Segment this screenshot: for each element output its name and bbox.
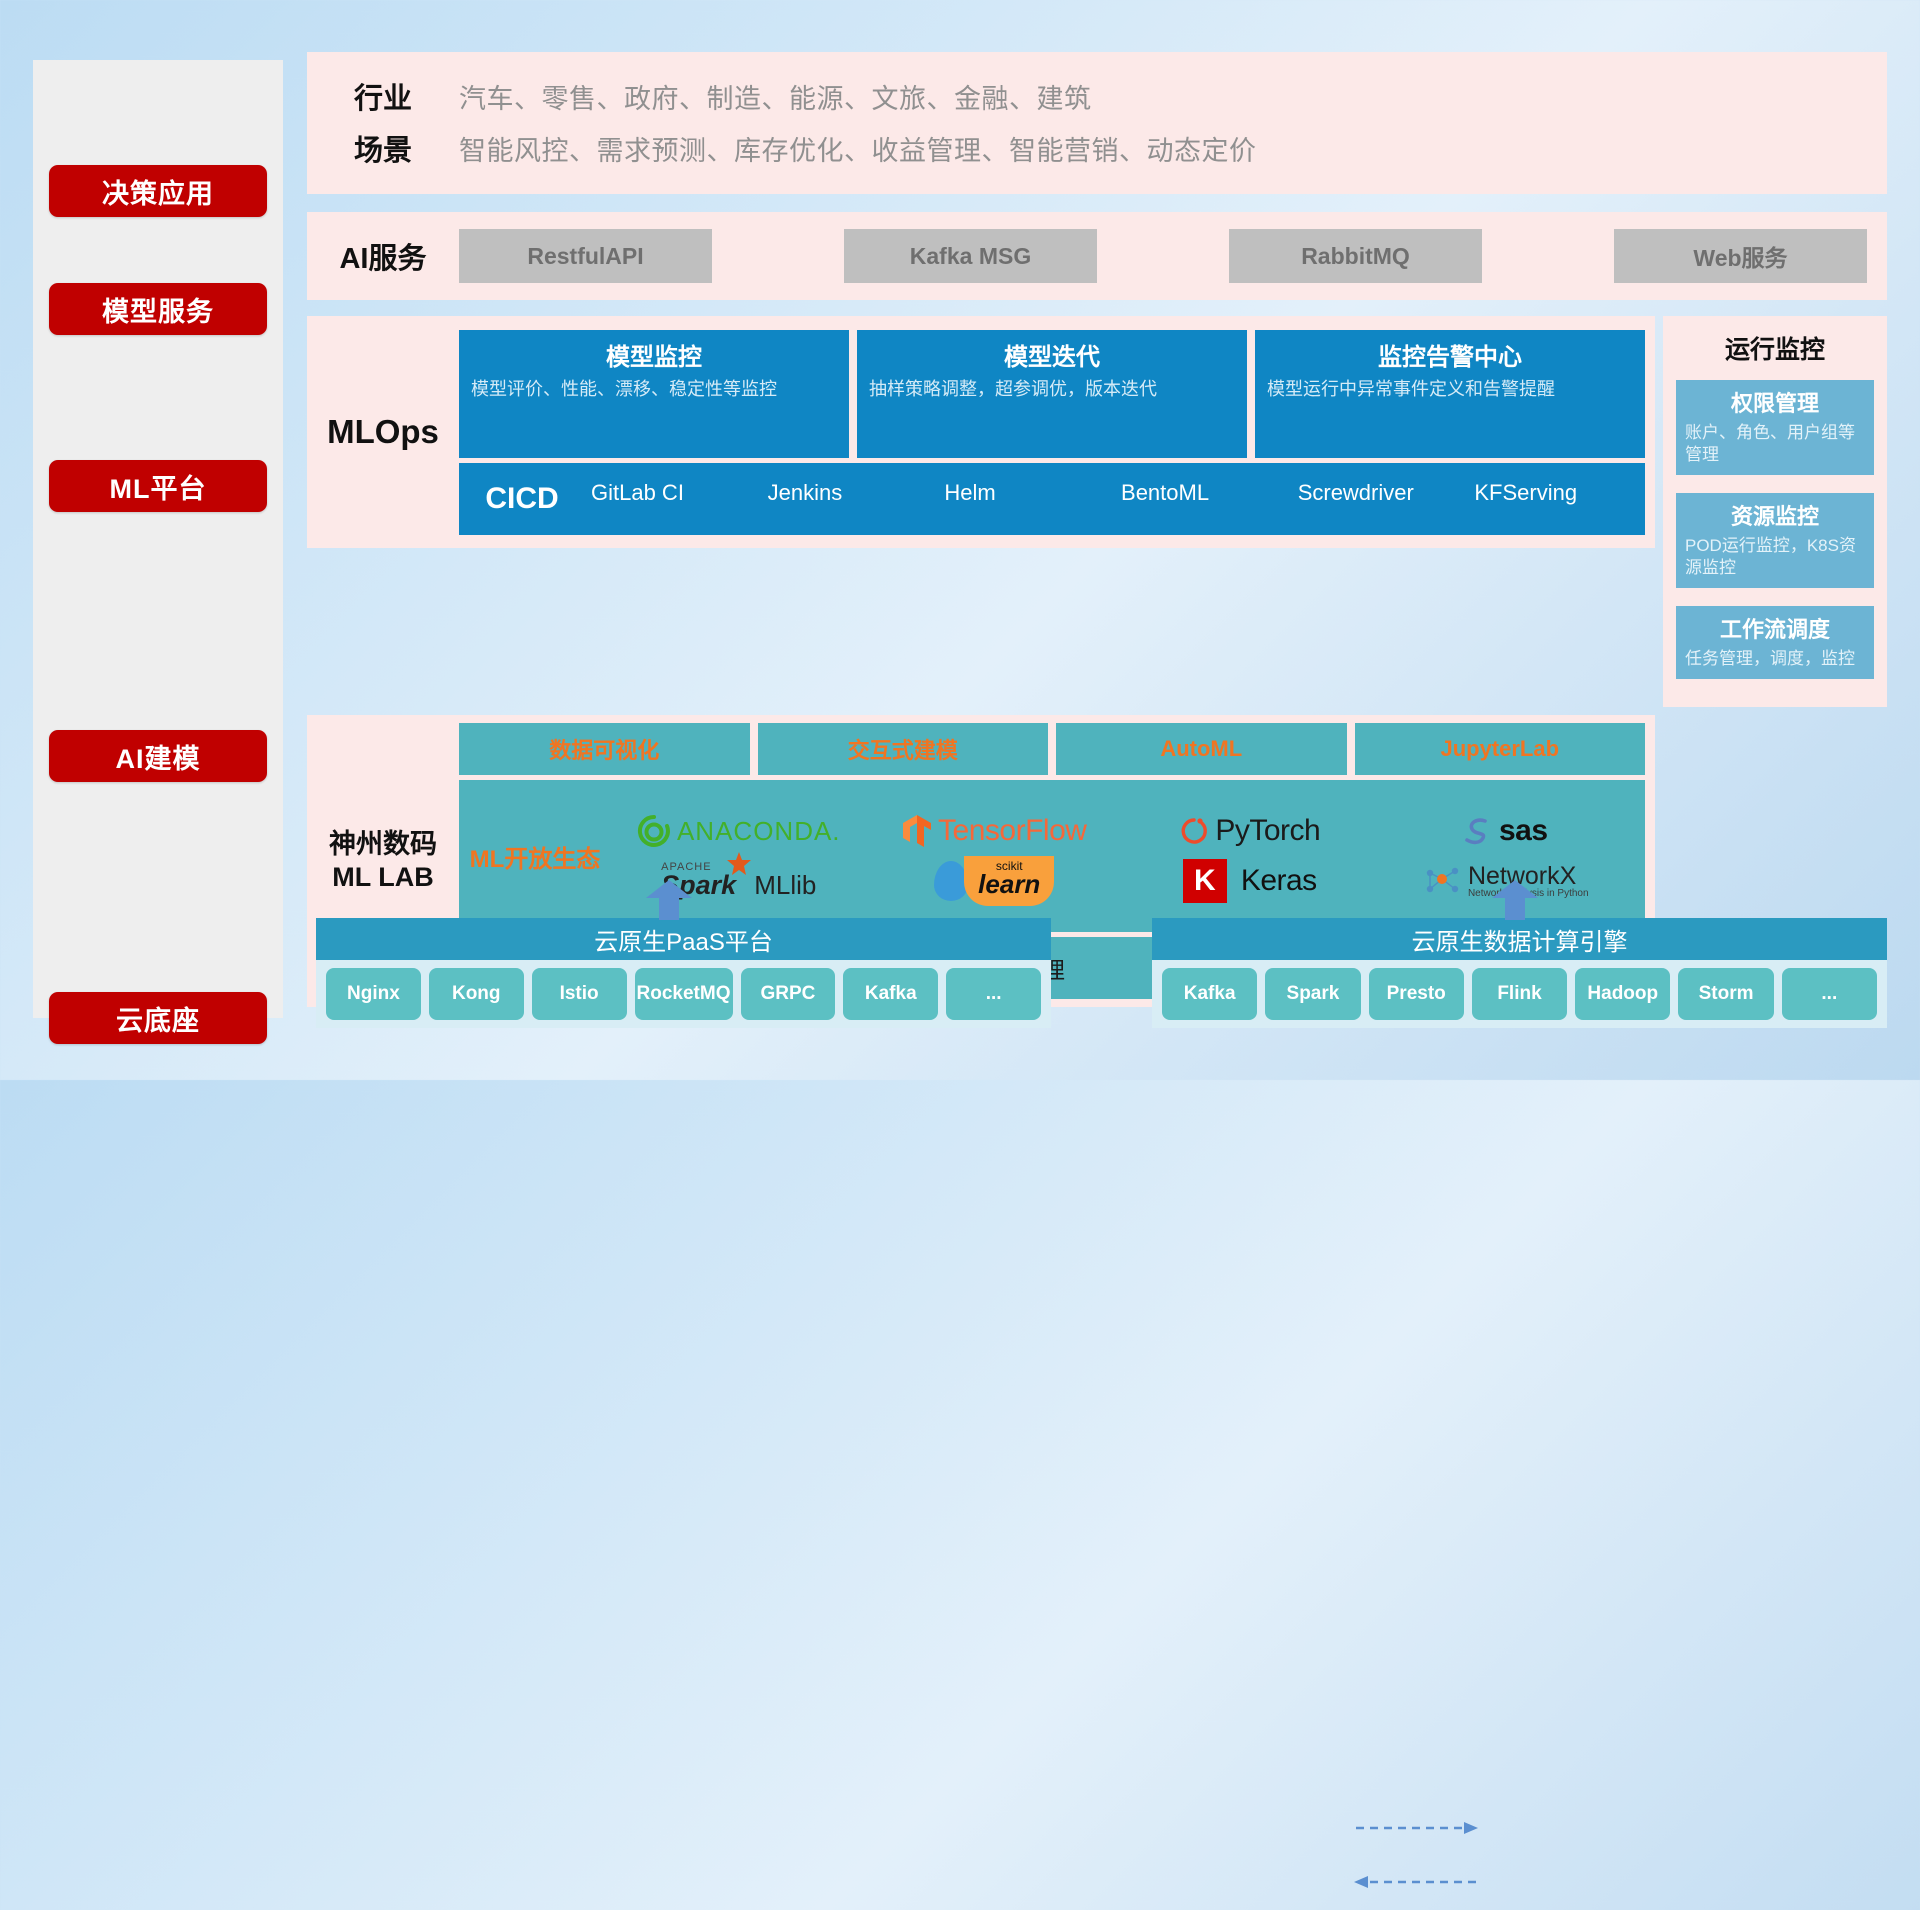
mlops-body: 模型监控 模型评价、性能、漂移、稳定性等监控 模型迭代 抽样策略调整，超参调优，… [459,330,1645,535]
ml-ecosystem-label: ML开放生态 [459,839,611,874]
card-desc: 任务管理，调度，监控 [1685,648,1865,670]
card-title: 监控告警中心 [1267,337,1633,372]
scenario-items: 智能风控、需求预测、库存优化、收益管理、智能营销、动态定价 [459,129,1257,168]
paas-chip-kafka[interactable]: Kafka [843,968,938,1020]
ml-lab-tool-list: 数据可视化 交互式建模 AutoML JupyterLab [459,723,1645,775]
compute-chip-hadoop[interactable]: Hadoop [1575,968,1670,1020]
compute-chip-flink[interactable]: Flink [1472,968,1567,1020]
lab-tool-interactive-modeling[interactable]: 交互式建模 [758,723,1049,775]
card-desc: 账户、角色、用户组等管理 [1685,422,1865,466]
cicd-item-bentoml[interactable]: BentoML [1115,463,1292,535]
industry-items: 汽车、零售、政府、制造、能源、文旅、金融、建筑 [459,77,1092,116]
card-desc: 模型评价、性能、漂移、稳定性等监控 [471,377,837,401]
cicd-item-gitlab-ci[interactable]: GitLab CI [585,463,762,535]
mlops-label: MLOps [307,413,459,451]
mlops-card-model-monitoring[interactable]: 模型监控 模型评价、性能、漂移、稳定性等监控 [459,330,849,458]
card-desc: POD运行监控，K8S资源监控 [1685,535,1865,579]
cicd-title: CICD [459,482,585,516]
monitor-card-workflow[interactable]: 工作流调度 任务管理，调度，监控 [1676,606,1874,679]
service-chip-restfulapi[interactable]: RestfulAPI [459,229,712,283]
card-desc: 模型运行中异常事件定义和告警提醒 [1267,377,1633,401]
bidirectional-link-arrows [1352,1800,1482,1910]
rail-label: AI建模 [116,737,201,776]
rail-label: 云底座 [116,999,200,1038]
decision-apps-band: 行业 汽车、零售、政府、制造、能源、文旅、金融、建筑 场景 智能风控、需求预测、… [307,52,1887,194]
mlops-band: MLOps 模型监控 模型评价、性能、漂移、稳定性等监控 模型迭代 抽样策略调整… [307,316,1655,548]
layer-rail: 决策应用 模型服务 ML平台 AI建模 云底座 [33,60,283,1018]
rail-label: 模型服务 [102,290,214,329]
spark-star-icon [726,851,752,877]
compute-chip-kafka[interactable]: Kafka [1162,968,1257,1020]
cicd-bar: CICD GitLab CI Jenkins Helm BentoML Scre… [459,463,1645,535]
rail-item-ml-platform[interactable]: ML平台 [49,460,267,512]
cicd-item-kfserving[interactable]: KFServing [1468,463,1645,535]
lab-tool-jupyterlab[interactable]: JupyterLab [1355,723,1646,775]
lab-tool-automl[interactable]: AutoML [1056,723,1347,775]
lab-tool-data-visualization[interactable]: 数据可视化 [459,723,750,775]
paas-up-arrow-icon [646,880,692,920]
compute-chip-list: Kafka Spark Presto Flink Hadoop Storm ..… [1152,960,1887,1028]
service-chip-kafka-msg[interactable]: Kafka MSG [844,229,1097,283]
anaconda-mark-icon [637,814,671,848]
rail-item-ai-modeling[interactable]: AI建模 [49,730,267,782]
paas-chip-more[interactable]: ... [946,968,1041,1020]
sas-mark-icon [1463,814,1493,848]
tensorflow-logo: TensorFlow [902,814,1086,848]
card-title: 模型监控 [471,337,837,372]
compute-chip-storm[interactable]: Storm [1678,968,1773,1020]
mlops-row: MLOps 模型监控 模型评价、性能、漂移、稳定性等监控 模型迭代 抽样策略调整… [307,316,1887,707]
arrow-head-left-icon [1354,1876,1368,1888]
service-chip-web-service[interactable]: Web服务 [1614,229,1867,283]
paas-title-bar: 云原生PaaS平台 [316,918,1051,960]
card-desc: 抽样策略调整，超参调优，版本迭代 [869,377,1235,401]
compute-title-bar: 云原生数据计算引擎 [1152,918,1887,960]
cicd-item-helm[interactable]: Helm [938,463,1115,535]
card-title: 权限管理 [1685,386,1865,418]
tensorflow-wordmark: TensorFlow [938,814,1086,848]
card-title: 模型迭代 [869,337,1235,372]
anaconda-logo: ANACONDA. [637,814,841,848]
cicd-item-screwdriver[interactable]: Screwdriver [1292,463,1469,535]
ml-lab-label-line1: 神州数码 [307,828,459,862]
architecture-main: 行业 汽车、零售、政府、制造、能源、文旅、金融、建筑 场景 智能风控、需求预测、… [307,52,1887,1007]
compute-engine-group: 云原生数据计算引擎 Kafka Spark Presto Flink Hadoo… [1152,918,1887,1028]
cicd-item-jenkins[interactable]: Jenkins [762,463,939,535]
pytorch-wordmark: PyTorch [1215,814,1320,848]
rail-item-decision-apps[interactable]: 决策应用 [49,165,267,217]
monitor-card-resource[interactable]: 资源监控 POD运行监控，K8S资源监控 [1676,493,1874,588]
industry-row: 行业 汽车、零售、政府、制造、能源、文旅、金融、建筑 [307,70,1887,122]
card-title: 资源监控 [1685,499,1865,531]
tensorflow-mark-icon [902,814,932,848]
arrow-head-right-icon [1464,1822,1478,1834]
paas-chip-list: Nginx Kong Istio RocketMQ GRPC Kafka ... [316,960,1051,1028]
infrastructure-section: 云原生PaaS平台 Nginx Kong Istio RocketMQ GRPC… [307,880,1887,1040]
paas-chip-grpc[interactable]: GRPC [741,968,836,1020]
ai-services-label: AI服务 [307,235,459,277]
monitoring-title: 运行监控 [1676,330,1874,366]
mlops-card-alert-center[interactable]: 监控告警中心 模型运行中异常事件定义和告警提醒 [1255,330,1645,458]
paas-chip-rocketmq[interactable]: RocketMQ [635,968,733,1020]
pytorch-logo: PyTorch [1179,814,1320,848]
rail-item-cloud-foundation[interactable]: 云底座 [49,992,267,1044]
mlops-card-model-iteration[interactable]: 模型迭代 抽样策略调整，超参调优，版本迭代 [857,330,1247,458]
paas-chip-nginx[interactable]: Nginx [326,968,421,1020]
compute-chip-more[interactable]: ... [1782,968,1877,1020]
ai-services-chip-list: RestfulAPI Kafka MSG RabbitMQ Web服务 [459,229,1887,283]
rail-label: ML平台 [110,467,207,506]
monitor-card-permission[interactable]: 权限管理 账户、角色、用户组等管理 [1676,380,1874,475]
service-chip-rabbitmq[interactable]: RabbitMQ [1229,229,1482,283]
ai-services-band: AI服务 RestfulAPI Kafka MSG RabbitMQ Web服务 [307,212,1887,300]
paas-chip-kong[interactable]: Kong [429,968,524,1020]
rail-label: 决策应用 [102,172,214,211]
compute-up-arrow-icon [1492,880,1538,920]
paas-platform-group: 云原生PaaS平台 Nginx Kong Istio RocketMQ GRPC… [316,918,1051,1028]
scenario-row: 场景 智能风控、需求预测、库存优化、收益管理、智能营销、动态定价 [307,122,1887,174]
pytorch-mark-icon [1179,814,1209,848]
industry-label: 行业 [307,75,459,117]
card-title: 工作流调度 [1685,612,1865,644]
mlops-card-list: 模型监控 模型评价、性能、漂移、稳定性等监控 模型迭代 抽样策略调整，超参调优，… [459,330,1645,458]
paas-chip-istio[interactable]: Istio [532,968,627,1020]
rail-item-model-service[interactable]: 模型服务 [49,283,267,335]
scenario-label: 场景 [307,127,459,169]
compute-chip-presto[interactable]: Presto [1369,968,1464,1020]
compute-chip-spark[interactable]: Spark [1265,968,1360,1020]
sas-wordmark: sas [1499,814,1548,848]
anaconda-wordmark: ANACONDA. [677,816,841,847]
monitoring-column: 运行监控 权限管理 账户、角色、用户组等管理 资源监控 POD运行监控，K8S资… [1663,316,1887,707]
sas-logo: sas [1463,814,1548,848]
